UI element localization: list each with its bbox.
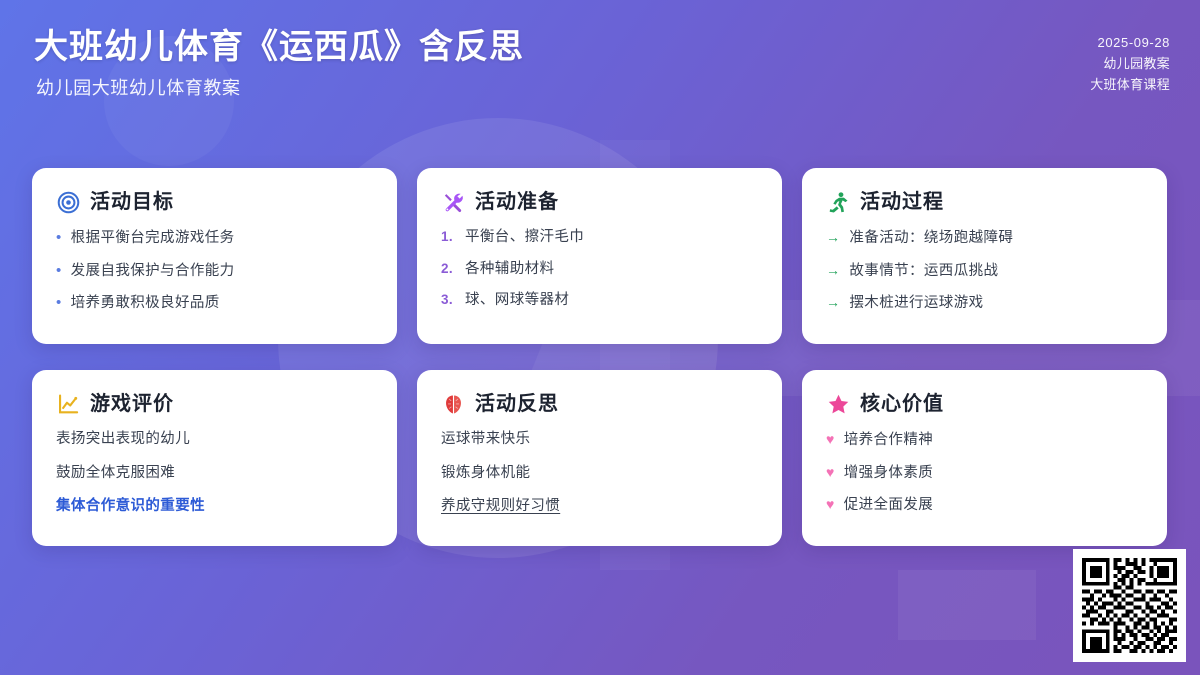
bullet-dot-icon: • xyxy=(56,261,62,281)
card-title: 游戏评价 xyxy=(90,392,174,416)
list-item-underlined[interactable]: 养成守规则好习惯 xyxy=(441,497,758,517)
list-item-text: 培养合作精神 xyxy=(844,431,1143,451)
chart-increasing-icon xyxy=(56,392,80,416)
card-activity-goals[interactable]: 活动目标 • 根据平衡台完成游戏任务 • 发展自我保护与合作能力 • 培养勇敢积… xyxy=(32,168,397,344)
list-item-text: 故事情节：运西瓜挑战 xyxy=(849,262,1143,282)
heart-icon: ♥ xyxy=(826,430,835,449)
card-item-list: → 准备活动：绕场跑越障碍 → 故事情节：运西瓜挑战 → 摆木桩进行运球游戏 xyxy=(826,228,1143,314)
list-item: • 发展自我保护与合作能力 xyxy=(56,261,373,282)
runner-icon xyxy=(826,190,850,214)
arrow-right-icon: → xyxy=(826,228,840,247)
list-item-text: 准备活动：绕场跑越障碍 xyxy=(849,229,1143,249)
list-item: → 准备活动：绕场跑越障碍 xyxy=(826,228,1143,249)
list-item-text: 各种辅助材料 xyxy=(465,260,758,280)
card-title: 活动准备 xyxy=(475,190,559,214)
card-item-list: • 根据平衡台完成游戏任务 • 发展自我保护与合作能力 • 培养勇敢积极良好品质 xyxy=(56,228,373,314)
card-title: 活动目标 xyxy=(90,190,174,214)
list-item: 3. 球、网球等器材 xyxy=(441,291,758,311)
background-rectangle-decoration xyxy=(898,570,1036,640)
heart-icon: ♥ xyxy=(826,463,835,482)
tools-icon xyxy=(441,190,465,214)
card-title: 活动过程 xyxy=(860,190,944,214)
bullet-dot-icon: • xyxy=(56,293,62,313)
arrow-right-icon: → xyxy=(826,261,840,280)
bullet-dot-icon: • xyxy=(56,228,62,248)
card-header: 活动反思 xyxy=(441,392,758,416)
card-activity-process[interactable]: 活动过程 → 准备活动：绕场跑越障碍 → 故事情节：运西瓜挑战 → 摆木桩进行运… xyxy=(802,168,1167,344)
card-title: 活动反思 xyxy=(475,392,559,416)
list-item: • 根据平衡台完成游戏任务 xyxy=(56,228,373,249)
target-icon xyxy=(56,190,80,214)
page-title: 大班幼儿体育《运西瓜》含反思 xyxy=(34,26,524,69)
slide-header: 大班幼儿体育《运西瓜》含反思 幼儿园大班幼儿体育教案 2025-09-28 幼儿… xyxy=(0,0,1200,140)
list-item-text: 表扬突出表现的幼儿 xyxy=(56,430,373,450)
card-core-values[interactable]: 核心价值 ♥ 培养合作精神 ♥ 增强身体素质 ♥ 促进全面发展 xyxy=(802,370,1167,546)
list-item-text: 球、网球等器材 xyxy=(465,291,758,311)
card-header: 游戏评价 xyxy=(56,392,373,416)
star-icon xyxy=(826,392,850,416)
card-header: 活动过程 xyxy=(826,190,1143,214)
card-header: 活动准备 xyxy=(441,190,758,214)
card-item-list: 表扬突出表现的幼儿 鼓励全体克服困难 集体合作意识的重要性 xyxy=(56,430,373,517)
card-item-list: 1. 平衡台、擦汗毛巾 2. 各种辅助材料 3. 球、网球等器材 xyxy=(441,228,758,311)
list-item-text: 运球带来快乐 xyxy=(441,430,758,450)
card-game-evaluation[interactable]: 游戏评价 表扬突出表现的幼儿 鼓励全体克服困难 集体合作意识的重要性 xyxy=(32,370,397,546)
list-number: 3. xyxy=(441,291,456,309)
list-item-text: 根据平衡台完成游戏任务 xyxy=(71,229,373,249)
list-item-text: 鼓励全体克服困难 xyxy=(56,464,373,484)
meta-date: 2025-09-28 xyxy=(1090,32,1170,53)
list-item-text: 促进全面发展 xyxy=(844,496,1143,516)
list-item-text: 锻炼身体机能 xyxy=(441,464,758,484)
list-item-text: 摆木桩进行运球游戏 xyxy=(849,294,1143,314)
heart-icon: ♥ xyxy=(826,495,835,514)
list-item: • 培养勇敢积极良好品质 xyxy=(56,293,373,314)
list-item: → 故事情节：运西瓜挑战 xyxy=(826,261,1143,282)
card-grid: 活动目标 • 根据平衡台完成游戏任务 • 发展自我保护与合作能力 • 培养勇敢积… xyxy=(32,168,1168,546)
list-number: 1. xyxy=(441,228,456,246)
list-number: 2. xyxy=(441,260,456,278)
slide-root: 大班幼儿体育《运西瓜》含反思 幼儿园大班幼儿体育教案 2025-09-28 幼儿… xyxy=(0,0,1200,675)
header-meta: 2025-09-28 幼儿园教案 大班体育课程 xyxy=(1090,32,1170,95)
meta-category: 幼儿园教案 xyxy=(1090,53,1170,74)
list-item-text: 培养勇敢积极良好品质 xyxy=(71,294,373,314)
card-activity-reflection[interactable]: 活动反思 运球带来快乐 锻炼身体机能 养成守规则好习惯 xyxy=(417,370,782,546)
list-item-text: 平衡台、擦汗毛巾 xyxy=(465,228,758,248)
list-item: 1. 平衡台、擦汗毛巾 xyxy=(441,228,758,248)
list-item: 集体合作意识的重要性 xyxy=(56,497,373,517)
list-item: 表扬突出表现的幼儿 xyxy=(56,430,373,450)
brain-icon xyxy=(441,392,465,416)
card-activity-preparation[interactable]: 活动准备 1. 平衡台、擦汗毛巾 2. 各种辅助材料 3. 球、网球等器材 xyxy=(417,168,782,344)
list-item: → 摆木桩进行运球游戏 xyxy=(826,293,1143,314)
qr-code[interactable] xyxy=(1073,549,1186,662)
card-header: 活动目标 xyxy=(56,190,373,214)
list-item: ♥ 促进全面发展 xyxy=(826,495,1143,516)
arrow-right-icon: → xyxy=(826,293,840,312)
list-item-text: 增强身体素质 xyxy=(844,464,1143,484)
list-item: 2. 各种辅助材料 xyxy=(441,260,758,280)
list-item-text: 发展自我保护与合作能力 xyxy=(71,262,373,282)
title-block: 大班幼儿体育《运西瓜》含反思 幼儿园大班幼儿体育教案 xyxy=(34,26,524,100)
qr-code-image xyxy=(1082,558,1177,653)
card-item-list: 运球带来快乐 锻炼身体机能 养成守规则好习惯 xyxy=(441,430,758,517)
card-title: 核心价值 xyxy=(860,392,944,416)
card-item-list: ♥ 培养合作精神 ♥ 增强身体素质 ♥ 促进全面发展 xyxy=(826,430,1143,516)
meta-course: 大班体育课程 xyxy=(1090,74,1170,95)
list-item: 鼓励全体克服困难 xyxy=(56,464,373,484)
list-item: ♥ 培养合作精神 xyxy=(826,430,1143,451)
list-item-link[interactable]: 集体合作意识的重要性 xyxy=(56,497,373,517)
list-item: 养成守规则好习惯 xyxy=(441,497,758,517)
list-item: 运球带来快乐 xyxy=(441,430,758,450)
page-subtitle: 幼儿园大班幼儿体育教案 xyxy=(36,77,524,100)
card-header: 核心价值 xyxy=(826,392,1143,416)
list-item: 锻炼身体机能 xyxy=(441,464,758,484)
list-item: ♥ 增强身体素质 xyxy=(826,463,1143,484)
